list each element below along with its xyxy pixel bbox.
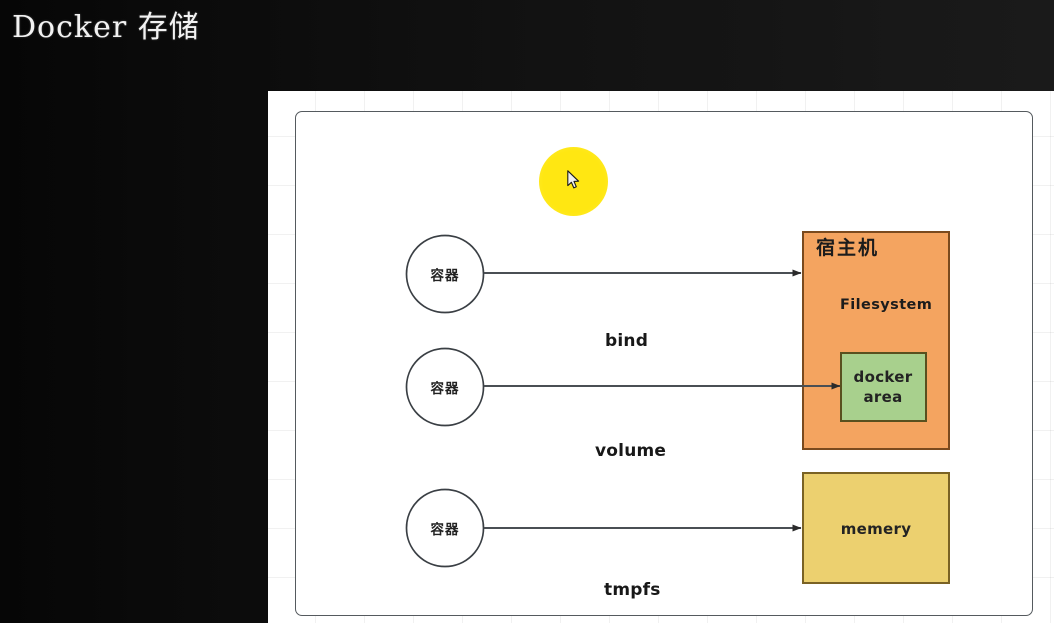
slide-canvas: 宿主机 Filesystem bind volume tmpfs 容器 容器 容…: [268, 91, 1054, 623]
host-label: 宿主机: [816, 233, 879, 260]
filesystem-label: Filesystem: [840, 297, 932, 313]
memory-label: memery: [841, 519, 912, 539]
container-label-2: 容器: [431, 377, 460, 397]
edge-label-bind: bind: [605, 331, 648, 351]
edge-label-volume: volume: [595, 441, 666, 461]
docker-area-label: docker area: [854, 367, 913, 407]
docker-area-label-line1: docker: [854, 368, 913, 386]
container-label-3: 容器: [431, 518, 460, 538]
container-label-1: 容器: [431, 264, 460, 284]
video-frame: Docker 存储: [0, 0, 1054, 623]
docker-area-label-line2: area: [863, 388, 902, 406]
edge-label-tmpfs: tmpfs: [604, 580, 661, 600]
diagram-svg: [268, 91, 1054, 623]
page-title: Docker 存储: [12, 8, 200, 48]
